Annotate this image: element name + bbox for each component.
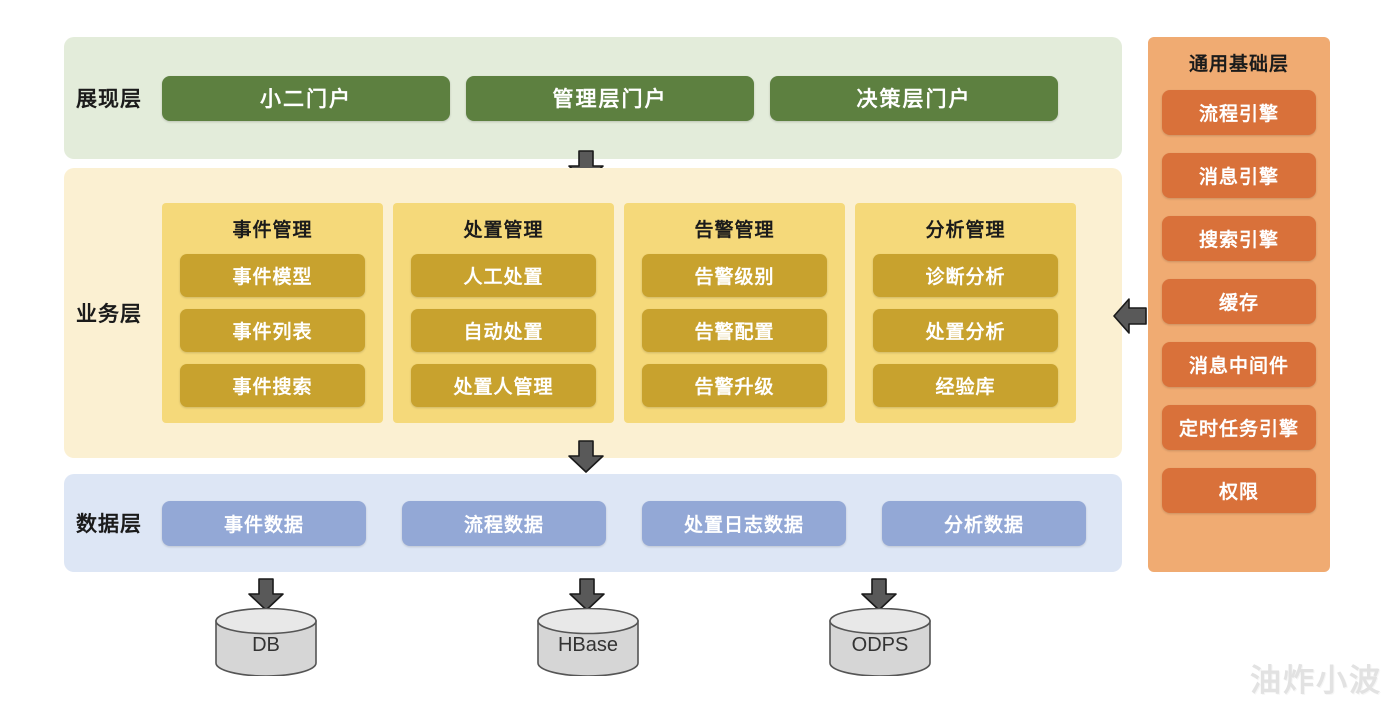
base-scheduler-engine[interactable]: 定时任务引擎 (1162, 405, 1316, 450)
presentation-layer-label: 展现层 (76, 83, 160, 113)
base-search-engine[interactable]: 搜索引擎 (1162, 216, 1316, 261)
item-disposal-analysis[interactable]: 处置分析 (873, 309, 1058, 352)
card-disposal-management-title: 处置管理 (411, 215, 596, 242)
item-alarm-level[interactable]: 告警级别 (642, 254, 827, 297)
item-alarm-escalation[interactable]: 告警升级 (642, 364, 827, 407)
item-event-model[interactable]: 事件模型 (180, 254, 365, 297)
presentation-layer-items: 小二门户 管理层门户 决策层门户 (160, 76, 1122, 121)
card-disposal-management: 处置管理 人工处置 自动处置 处置人管理 (393, 203, 614, 423)
item-alarm-config[interactable]: 告警配置 (642, 309, 827, 352)
data-layer-items: 事件数据 流程数据 处置日志数据 分析数据 (160, 501, 1122, 546)
card-event-management-title: 事件管理 (180, 215, 365, 242)
item-event-list[interactable]: 事件列表 (180, 309, 365, 352)
data-layer-band: 数据层 事件数据 流程数据 处置日志数据 分析数据 (64, 474, 1122, 572)
item-diagnostic-analysis[interactable]: 诊断分析 (873, 254, 1058, 297)
item-manual-disposal[interactable]: 人工处置 (411, 254, 596, 297)
portal-xiaoer[interactable]: 小二门户 (162, 76, 450, 121)
card-alarm-management: 告警管理 告警级别 告警配置 告警升级 (624, 203, 845, 423)
storage-db-label: DB (215, 634, 317, 657)
card-analysis-management: 分析管理 诊断分析 处置分析 经验库 (855, 203, 1076, 423)
storage-odps-icon: ODPS (829, 608, 931, 676)
card-analysis-management-title: 分析管理 (873, 215, 1058, 242)
base-message-engine[interactable]: 消息引擎 (1162, 153, 1316, 198)
data-layer-label: 数据层 (76, 508, 160, 538)
architecture-diagram: 展现层 小二门户 管理层门户 决策层门户 业务层 事件管理 事件模型 事件列表 … (0, 0, 1400, 712)
business-layer-cards: 事件管理 事件模型 事件列表 事件搜索 处置管理 人工处置 自动处置 处置人管理… (160, 203, 1122, 423)
data-process[interactable]: 流程数据 (402, 501, 606, 546)
base-process-engine[interactable]: 流程引擎 (1162, 90, 1316, 135)
base-cache[interactable]: 缓存 (1162, 279, 1316, 324)
portal-decision[interactable]: 决策层门户 (770, 76, 1058, 121)
business-layer-label: 业务层 (76, 298, 160, 328)
item-handler-management[interactable]: 处置人管理 (411, 364, 596, 407)
data-disposal-log[interactable]: 处置日志数据 (642, 501, 846, 546)
portal-management[interactable]: 管理层门户 (466, 76, 754, 121)
storage-odps-label: ODPS (829, 634, 931, 657)
arrow-base-to-business-icon (1112, 297, 1148, 340)
storage-hbase-icon: HBase (537, 608, 639, 676)
storage-db-icon: DB (215, 608, 317, 676)
item-event-search[interactable]: 事件搜索 (180, 364, 365, 407)
item-auto-disposal[interactable]: 自动处置 (411, 309, 596, 352)
common-base-layer-panel: 通用基础层 流程引擎 消息引擎 搜索引擎 缓存 消息中间件 定时任务引擎 权限 (1148, 37, 1330, 572)
item-experience-base[interactable]: 经验库 (873, 364, 1058, 407)
data-analysis[interactable]: 分析数据 (882, 501, 1086, 546)
card-alarm-management-title: 告警管理 (642, 215, 827, 242)
card-event-management: 事件管理 事件模型 事件列表 事件搜索 (162, 203, 383, 423)
base-permission[interactable]: 权限 (1162, 468, 1316, 513)
storage-hbase-label: HBase (537, 634, 639, 657)
business-layer-band: 业务层 事件管理 事件模型 事件列表 事件搜索 处置管理 人工处置 自动处置 处… (64, 168, 1122, 458)
data-event[interactable]: 事件数据 (162, 501, 366, 546)
base-message-middleware[interactable]: 消息中间件 (1162, 342, 1316, 387)
presentation-layer-band: 展现层 小二门户 管理层门户 决策层门户 (64, 37, 1122, 159)
watermark: 油炸小波 (1250, 655, 1382, 700)
common-base-layer-title: 通用基础层 (1162, 49, 1316, 76)
